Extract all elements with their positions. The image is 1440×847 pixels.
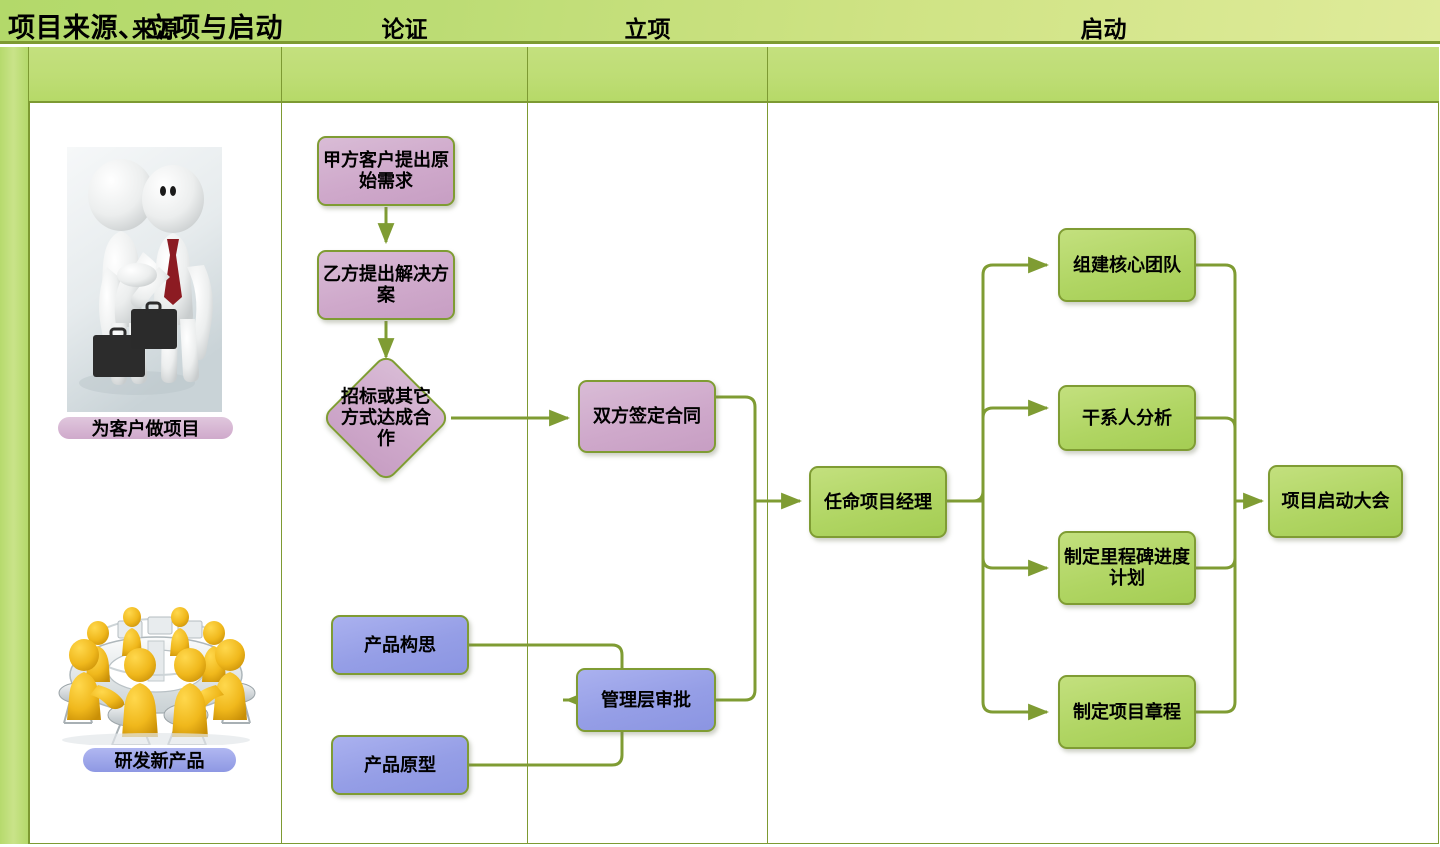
node-mgmt-approval[interactable]: 管理层审批: [576, 668, 716, 732]
node-bidding[interactable]: 招标或其它方式达成合作: [340, 372, 432, 464]
column-header-argument: 论证: [282, 0, 527, 54]
node-stakeholder-analysis[interactable]: 干系人分析: [1058, 385, 1196, 451]
node-product-concept[interactable]: 产品构思: [331, 615, 469, 675]
node-build-core-team[interactable]: 组建核心团队: [1058, 228, 1196, 302]
divider-initiation-startup: [767, 47, 768, 844]
handshake-photo: [67, 147, 222, 412]
divider-argument-initiation: [527, 47, 528, 844]
divider-source-argument: [281, 47, 282, 844]
column-header-source: 来源: [29, 0, 281, 54]
flowchart-page: 项目来源、立项与启动 来源 论证 立项 启动: [0, 0, 1440, 847]
team-meeting-photo: [40, 597, 273, 745]
node-milestone-plan[interactable]: 制定里程碑进度计划: [1058, 531, 1196, 605]
column-header-startup: 启动: [768, 0, 1439, 54]
node-vendor-solution[interactable]: 乙方提出解决方案: [317, 250, 455, 320]
diamond-shape: [321, 353, 451, 483]
node-assign-pm[interactable]: 任命项目经理: [809, 466, 947, 538]
column-header-initiation: 立项: [528, 0, 767, 54]
handshake-photo-caption: 为客户做项目: [58, 417, 233, 439]
node-contract-signed[interactable]: 双方签定合同: [578, 380, 716, 453]
node-project-charter[interactable]: 制定项目章程: [1058, 675, 1196, 749]
node-client-need[interactable]: 甲方客户提出原始需求: [317, 136, 455, 206]
node-kickoff-meeting[interactable]: 项目启动大会: [1268, 465, 1403, 538]
node-product-prototype[interactable]: 产品原型: [331, 735, 469, 795]
team-meeting-photo-caption: 研发新产品: [83, 748, 236, 772]
left-rail-decoration: [0, 47, 29, 844]
column-header-row: [29, 47, 1439, 103]
